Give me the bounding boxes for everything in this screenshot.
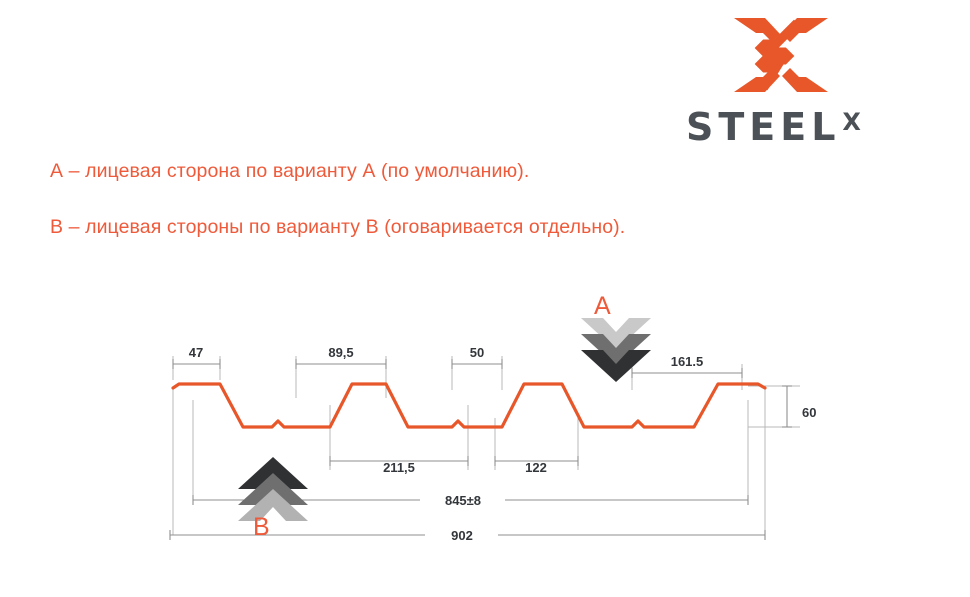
brand-logo: STEEL X: [686, 14, 876, 146]
steelx-x-mark-icon: [732, 14, 830, 96]
marker-a-chevrons-icon: [581, 318, 651, 382]
dimension-labels: 47 89,5 50 161.5 60 211,5 122 845±8 902: [189, 345, 817, 543]
brand-wordmark-superscript: X: [842, 110, 861, 134]
caption-variant-a: А – лицевая сторона по варианту А (по ум…: [50, 160, 529, 183]
extension-lines: [173, 356, 800, 535]
dim-122-label: 122: [525, 460, 547, 475]
dim-89-5-label: 89,5: [328, 345, 353, 360]
dim-50-label: 50: [470, 345, 484, 360]
dim-845-label: 845±8: [445, 493, 481, 508]
dim-211-5-label: 211,5: [383, 460, 415, 475]
brand-wordmark: STEEL X: [686, 102, 876, 146]
dim-161-5-label: 161.5: [671, 354, 704, 369]
marker-a-label: A: [594, 294, 611, 319]
sheet-profile-outline: [173, 384, 765, 427]
brand-wordmark-text: STEEL: [686, 108, 840, 146]
dim-902-label: 902: [451, 528, 473, 543]
dim-60-label: 60: [802, 405, 816, 420]
caption-variant-b: В – лицевая стороны по варианту В (огова…: [50, 216, 625, 239]
dim-47-label: 47: [189, 345, 203, 360]
marker-b-chevrons-icon: [238, 457, 308, 521]
marker-b-label: B: [253, 515, 270, 540]
